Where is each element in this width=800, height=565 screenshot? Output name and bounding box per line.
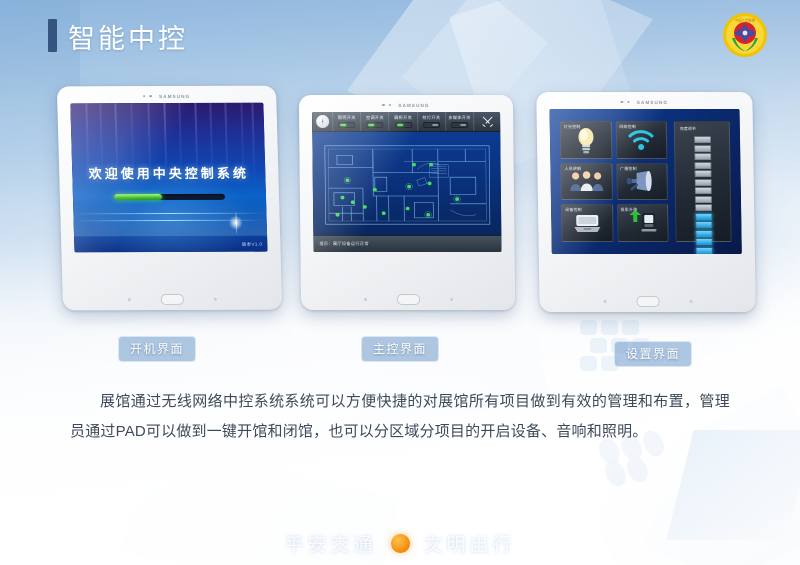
toolbar-switch-aircon[interactable]: 空调开关 (360, 112, 388, 131)
toolbar-switch-label: 照明开关 (338, 115, 356, 121)
tile-label: 投影升降 (621, 207, 638, 213)
brightness-panel[interactable]: 亮度调节 (674, 121, 732, 242)
slider-segment[interactable] (694, 153, 711, 160)
boot-spark-icon (227, 215, 243, 231)
tile-label: 设备控制 (565, 207, 582, 213)
toggle-switch[interactable] (366, 122, 383, 127)
caption-main-control-interface: 主控界面 (361, 336, 439, 362)
main-control-screen: 照明开关 空调开关 展柜开关 射灯开关 (312, 112, 501, 252)
slider-segment[interactable] (694, 145, 711, 152)
toggle-switch[interactable] (423, 122, 440, 127)
slider-segment[interactable] (694, 162, 711, 169)
back-key-icon[interactable] (689, 299, 692, 302)
device-brand-label: SAMSUNG (398, 103, 429, 108)
tools-icon[interactable] (473, 112, 500, 131)
tablet-screen-settings[interactable]: 灯光控制 网络控制 (550, 109, 742, 254)
toolbar-switch-label: 多媒体开关 (448, 115, 471, 121)
people-icon (568, 169, 604, 193)
page-header: 智能中控 中国人民警察 (0, 0, 800, 72)
sensor-dot-icon (389, 104, 392, 106)
slider-segment-active[interactable] (695, 238, 712, 245)
tile-projector-lift[interactable]: 投影升降 (617, 204, 669, 242)
toolbar-switch-label: 空调开关 (366, 115, 384, 121)
tablet-screen-boot[interactable]: 欢迎使用中央控制系统 版本V1.0 (70, 103, 267, 253)
tablet-device-main-control: SAMSUNG 照明开关 空调开关 展柜开关 (299, 95, 515, 310)
tile-guide-staff[interactable]: 人员讲解 (560, 163, 612, 201)
slider-segment-active[interactable] (695, 229, 712, 236)
tablet-bottom-bezel (301, 291, 515, 307)
sensor-dot-icon (627, 101, 630, 103)
boot-progress-bar (113, 194, 225, 200)
tablet-device-settings: SAMSUNG 灯光控制 (536, 92, 755, 312)
brightness-slider[interactable] (693, 136, 712, 254)
menu-key-icon[interactable] (603, 299, 606, 302)
tablet-device-boot: SAMSUNG 欢迎使用中央控制系统 版本V1.0 (57, 86, 282, 311)
megaphone-icon (625, 169, 659, 193)
home-button[interactable] (636, 295, 659, 306)
slider-segment[interactable] (695, 204, 712, 211)
slider-segment-active[interactable] (695, 221, 712, 228)
tile-label: 灯光控制 (564, 124, 581, 130)
caption-settings-interface: 设置界面 (614, 341, 692, 367)
tablet-top-bezel: SAMSUNG (536, 96, 752, 108)
toolbar-switch-lighting[interactable]: 照明开关 (332, 112, 360, 131)
caption-boot-interface: 开机界面 (118, 336, 196, 362)
toolbar-switch-label: 展柜开关 (394, 115, 412, 121)
tile-network[interactable]: 网络控制 (615, 121, 667, 159)
title-accent-bar (48, 19, 57, 52)
footer-left-text: 平安交通 (284, 530, 376, 557)
device-brand-label: SAMSUNG (637, 100, 668, 105)
slider-segment[interactable] (693, 136, 710, 143)
control-status-bar: 提示：展厅设备运行正常 (313, 235, 501, 252)
boot-screen-background: 欢迎使用中央控制系统 版本V1.0 (70, 103, 267, 253)
boot-version-label: 版本V1.0 (242, 242, 263, 248)
footer-dot-icon (391, 534, 410, 553)
status-text: 提示：展厅设备运行正常 (319, 241, 368, 247)
camera-dot-icon (382, 104, 385, 106)
tile-broadcast[interactable]: 广播控制 (616, 163, 668, 201)
camera-dot-icon (621, 101, 624, 103)
footer-right-text: 文明出行 (424, 530, 516, 557)
boot-progress-fill (113, 194, 161, 200)
tablet-bottom-bezel (63, 291, 283, 308)
wifi-icon (626, 128, 656, 152)
tablet-bottom-bezel (539, 293, 755, 309)
tile-label: 广播控制 (620, 166, 637, 172)
home-button[interactable] (161, 293, 184, 304)
projector-lift-icon (626, 210, 658, 236)
page-title: 智能中控 (68, 17, 188, 56)
body-description: 展馆通过无线网络中控系统系统可以方便快捷的对展馆所有项目做到有效的管理和布置，管… (70, 387, 730, 447)
settings-screen: 灯光控制 网络控制 (550, 109, 742, 254)
tablet-screen-main-control[interactable]: 照明开关 空调开关 展柜开关 射灯开关 (312, 112, 501, 252)
panel-label: 亮度调节 (680, 126, 696, 132)
slider-segment[interactable] (694, 196, 711, 203)
toolbar-switch-label: 射灯开关 (422, 115, 440, 121)
slider-segment-active[interactable] (695, 212, 712, 219)
menu-key-icon[interactable] (363, 297, 366, 300)
tablet-top-bezel: SAMSUNG (299, 99, 513, 111)
app-logo-icon (316, 115, 329, 128)
device-icon (572, 211, 602, 235)
slider-segment-active[interactable] (695, 246, 712, 253)
control-toolbar: 照明开关 空调开关 展柜开关 射灯开关 (312, 112, 500, 132)
camera-dot-icon (143, 95, 146, 98)
tile-device[interactable]: 设备控制 (561, 204, 613, 242)
menu-key-icon[interactable] (128, 298, 131, 301)
toggle-switch[interactable] (451, 122, 468, 127)
slide-root: 智能中控 中国人民警察 SAMSUNG (0, 0, 800, 565)
tile-lighting[interactable]: 灯光控制 (560, 121, 612, 159)
back-key-icon[interactable] (214, 297, 217, 300)
svg-text:中国人民警察: 中国人民警察 (735, 18, 756, 23)
boot-welcome-text: 欢迎使用中央控制系统 (72, 162, 266, 182)
slide-footer: 平安交通 文明出行 (0, 530, 800, 557)
sensor-dot-icon (150, 95, 153, 98)
organization-emblem-icon: 中国人民警察 (721, 11, 769, 59)
toolbar-switch-spotlight[interactable]: 射灯开关 (417, 112, 445, 131)
tile-label: 人员讲解 (564, 166, 581, 172)
toolbar-switch-multimedia[interactable]: 多媒体开关 (445, 112, 473, 131)
back-key-icon[interactable] (449, 297, 452, 300)
tablet-top-bezel: SAMSUNG (57, 90, 276, 103)
settings-tile-grid: 灯光控制 网络控制 (560, 121, 669, 242)
body-paragraph: 展馆通过无线网络中控系统系统可以方便快捷的对展馆所有项目做到有效的管理和布置，管… (70, 387, 730, 447)
device-brand-label: SAMSUNG (159, 93, 190, 98)
floorplan-diagram[interactable] (322, 138, 494, 232)
toolbar-switch-showcase[interactable]: 展柜开关 (388, 112, 416, 131)
slider-segment[interactable] (694, 170, 711, 177)
slider-segment[interactable] (694, 187, 711, 194)
tile-label: 网络控制 (619, 124, 636, 130)
home-button[interactable] (396, 293, 419, 304)
toggle-switch[interactable] (395, 122, 412, 127)
slider-segment[interactable] (694, 179, 711, 186)
toggle-switch[interactable] (338, 122, 355, 127)
